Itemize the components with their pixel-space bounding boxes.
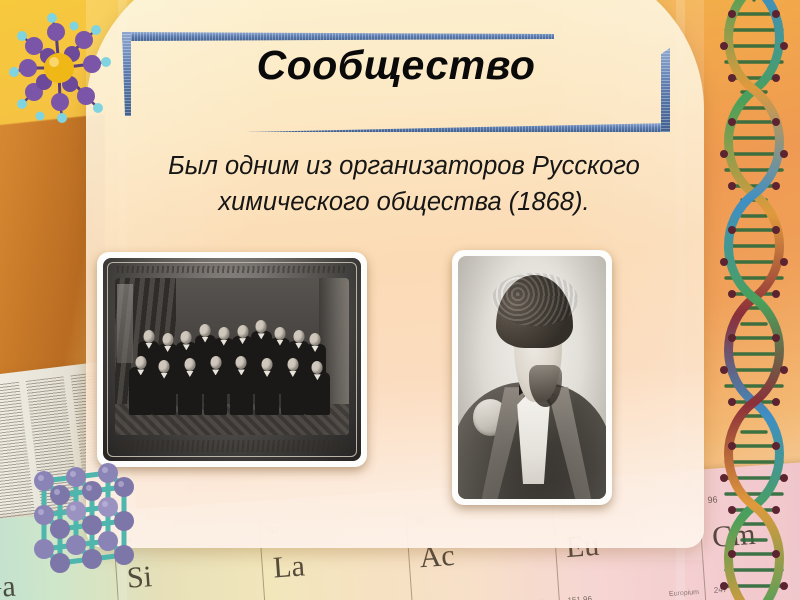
- person-collar: [186, 371, 193, 377]
- person-collar: [212, 369, 219, 375]
- group-photo-person: [152, 371, 175, 415]
- person-collar: [161, 373, 168, 379]
- person-head: [200, 324, 211, 337]
- body-text-line-2: химического общества (1868).: [54, 184, 754, 220]
- person-head: [218, 327, 229, 340]
- person-head: [159, 360, 170, 373]
- element-mass: 151.96: [567, 594, 592, 600]
- group-photo-mount: [103, 258, 361, 461]
- portrait-photo-image: [458, 256, 606, 499]
- dna-double-helix-right: [702, 0, 800, 600]
- group-photo-bottom-signatures: [117, 440, 347, 452]
- group-photo-person: [281, 369, 304, 415]
- person-collar: [258, 333, 265, 339]
- person-head: [312, 361, 323, 374]
- person-collar: [289, 371, 296, 377]
- person-head: [181, 331, 192, 344]
- person-head: [293, 330, 304, 343]
- person-collar: [276, 340, 283, 346]
- person-head: [236, 356, 247, 369]
- person-head: [287, 358, 298, 371]
- studio-window: [117, 284, 133, 363]
- group-photo-top-inscription: [117, 266, 347, 273]
- person-collar: [314, 374, 321, 380]
- group-photo-scene: [115, 278, 349, 435]
- element-symbol: La: [272, 549, 306, 585]
- group-photo-person: [255, 369, 278, 415]
- person-collar: [238, 369, 245, 375]
- person-collar: [145, 343, 152, 349]
- group-photo-person: [305, 372, 331, 414]
- portrait-vignette: [458, 256, 606, 499]
- slide: 31 Ga 69.723 Gallium 14 Si 28.086 Silico…: [0, 0, 800, 600]
- person-collar: [295, 343, 302, 349]
- element-symbol: Ga: [0, 570, 17, 600]
- person-head: [135, 356, 146, 369]
- group-photo-image: [103, 258, 361, 461]
- person-head: [210, 356, 221, 369]
- person-head: [162, 333, 173, 346]
- slide-body-text: Был одним из организаторов Русского хими…: [54, 148, 754, 220]
- group-photo-person: [230, 367, 253, 414]
- group-photo-frame[interactable]: [97, 252, 367, 467]
- group-photo-person: [129, 367, 152, 414]
- person-collar: [202, 337, 209, 343]
- group-photo-person: [204, 367, 227, 414]
- person-collar: [137, 369, 144, 375]
- person-collar: [312, 346, 319, 352]
- person-head: [262, 358, 273, 371]
- person-head: [310, 333, 321, 346]
- portrait-photo-frame[interactable]: [452, 250, 612, 505]
- molecule-model-top-left: [4, 6, 114, 141]
- person-collar: [220, 340, 227, 346]
- person-collar: [239, 338, 246, 344]
- person-head: [143, 330, 154, 343]
- person-collar: [164, 346, 171, 352]
- group-photo-person: [178, 369, 201, 415]
- person-collar: [264, 371, 271, 377]
- person-head: [237, 325, 248, 338]
- person-head: [184, 358, 195, 371]
- slide-title: Сообщество: [122, 44, 670, 87]
- person-head: [256, 320, 267, 333]
- person-collar: [183, 344, 190, 350]
- crystal-lattice-bottom-left: [22, 455, 152, 590]
- person-head: [274, 327, 285, 340]
- body-text-line-1: Был одним из организаторов Русского: [54, 148, 754, 184]
